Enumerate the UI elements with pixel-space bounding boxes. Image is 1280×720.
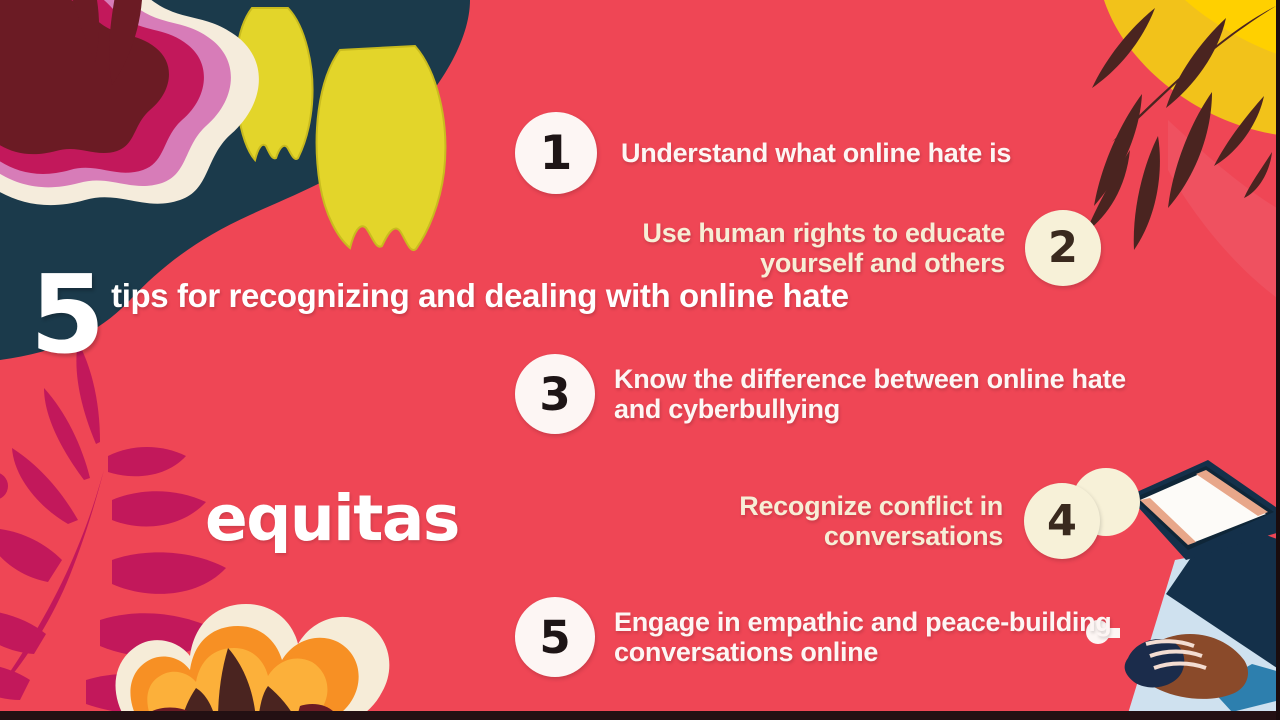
tip-text: Understand what online hate is: [621, 138, 1011, 168]
yellow-tulip-flowers: [236, 8, 446, 250]
tip-text: Recognize conflict in conversations: [663, 491, 1003, 551]
list-item: 4 Recognize conflict in conversations: [663, 483, 1100, 559]
tip-text: Use human rights to educate yourself and…: [535, 218, 1005, 278]
letterbox-bar-right: [1276, 0, 1280, 720]
badge-number: 4: [1024, 483, 1100, 559]
infographic-canvas: 5 tips for recognizing and dealing with …: [0, 0, 1280, 720]
badge-number: 5: [515, 597, 595, 677]
list-item: 3 Know the difference between online hat…: [515, 354, 1165, 434]
letterbox-bar-bottom: [0, 711, 1280, 720]
tips-list: 1 Understand what online hate is 2 Use h…: [505, 0, 1165, 720]
tip-text: Know the difference between online hate …: [614, 364, 1165, 424]
list-item: 2 Use human rights to educate yourself a…: [535, 210, 1101, 286]
headline-number: 5: [30, 272, 102, 361]
crimson-fern-branch-bottom-left: [0, 342, 226, 714]
badge-number: 3: [515, 354, 595, 434]
tip-text: Engage in empathic and peace-building co…: [614, 607, 1165, 667]
badge-number: 2: [1025, 210, 1101, 286]
small-accent-shapes: [0, 472, 8, 500]
layered-flower-top-left: [0, 0, 259, 205]
orange-flower-bottom-left: [116, 604, 390, 720]
list-item: 5 Engage in empathic and peace-building …: [515, 597, 1165, 677]
badge-number: 1: [515, 112, 597, 194]
equitas-logo: equitas: [205, 487, 459, 550]
list-item: 1 Understand what online hate is: [515, 112, 1011, 194]
